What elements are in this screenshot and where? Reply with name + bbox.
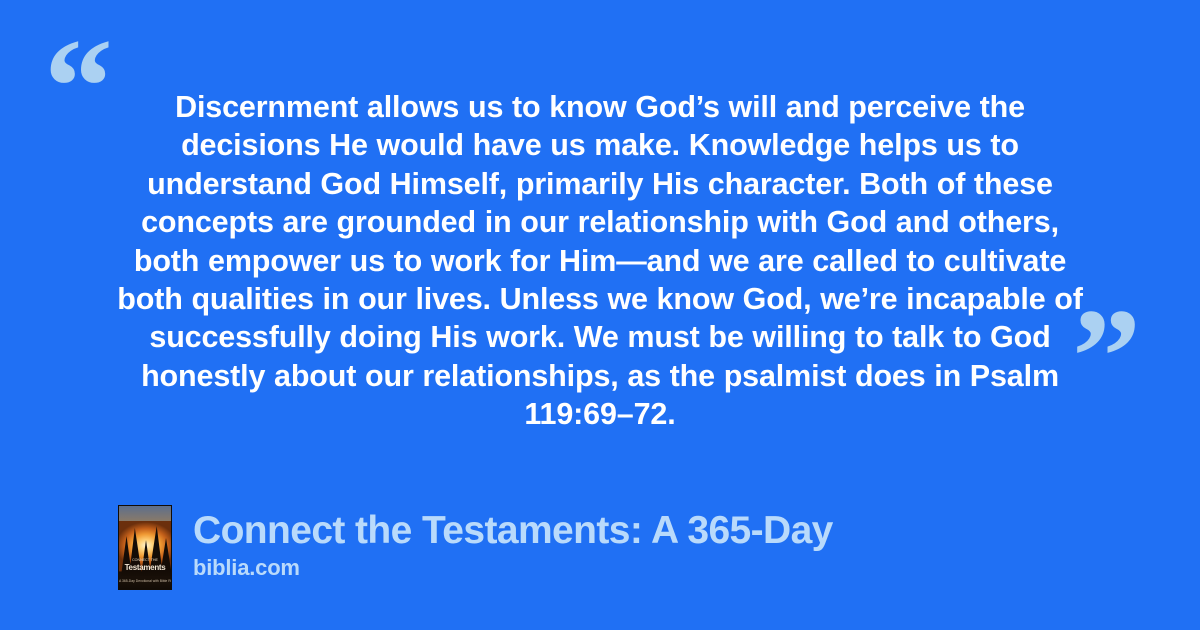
closing-quote-mark: ” <box>1072 288 1141 426</box>
book-cover-thumbnail: CONNECT THE Testaments A 365-Day Devotio… <box>118 505 172 590</box>
book-title: Connect the Testaments: A 365-Day <box>193 509 833 553</box>
cover-subtitle-text: A 365-Day Devotional with Bible Reading … <box>119 580 171 583</box>
quote-text: Discernment allows us to know God’s will… <box>108 88 1092 434</box>
cover-title-text: Testaments <box>119 564 171 572</box>
footer-attribution: CONNECT THE Testaments A 365-Day Devotio… <box>118 505 833 590</box>
quote-card: “ Discernment allows us to know God’s wi… <box>0 0 1200 630</box>
site-name: biblia.com <box>193 555 833 581</box>
opening-quote-mark: “ <box>44 18 113 156</box>
quote-region: “ Discernment allows us to know God’s wi… <box>0 0 1200 430</box>
footer-text-block: Connect the Testaments: A 365-Day biblia… <box>193 505 833 581</box>
